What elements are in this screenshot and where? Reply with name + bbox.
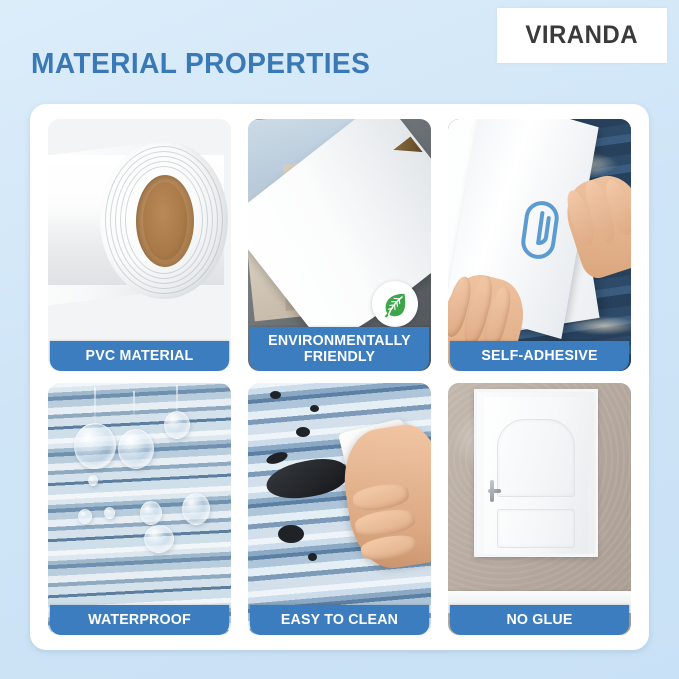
- water-droplet: [88, 475, 98, 486]
- feature-tile-environmentally-friendly[interactable]: ENVIRONMENTALLY FRIENDLY: [248, 119, 431, 371]
- door-handle-shape: [488, 489, 501, 493]
- roll-core-shape: [136, 175, 194, 267]
- feature-label-line1: ENVIRONMENTALLY: [268, 333, 411, 349]
- brand-name: VIRANDA: [526, 21, 639, 50]
- door-frame-shape: [474, 389, 598, 557]
- feature-label-waterproof: WATERPROOF: [50, 605, 229, 635]
- waterproof-image: [48, 383, 231, 635]
- water-droplet: [74, 423, 116, 469]
- feature-label-pvc-material: PVC MATERIAL: [50, 341, 229, 371]
- easy-to-clean-image: [248, 383, 431, 635]
- feature-tile-easy-to-clean[interactable]: EASY TO CLEAN: [248, 383, 431, 635]
- feature-label-line2: FRIENDLY: [304, 349, 375, 365]
- feature-label-no-glue: NO GLUE: [450, 605, 629, 635]
- droplet-trail: [133, 391, 135, 419]
- features-card: PVC MATERIAL: [30, 104, 649, 650]
- feature-tile-waterproof[interactable]: WATERPROOF: [48, 383, 231, 635]
- feature-label-environmentally-friendly: ENVIRONMENTALLY FRIENDLY: [250, 327, 429, 371]
- water-droplet: [118, 429, 154, 469]
- stain-spot: [278, 525, 304, 543]
- stain-spot: [270, 391, 281, 399]
- no-glue-image: [448, 383, 631, 635]
- features-grid: PVC MATERIAL: [48, 119, 631, 635]
- paperclip-icon: [516, 197, 564, 264]
- stain-spot: [308, 553, 317, 561]
- water-droplet: [144, 525, 174, 553]
- feature-tile-pvc-material[interactable]: PVC MATERIAL: [48, 119, 231, 371]
- stain-spot: [296, 427, 310, 437]
- brand-logo-box: VIRANDA: [497, 8, 667, 63]
- door-panel-lower: [497, 509, 575, 548]
- water-droplet: [140, 501, 162, 525]
- door-shape: [484, 397, 588, 554]
- water-droplet: [164, 411, 190, 439]
- feature-label-self-adhesive: SELF-ADHESIVE: [450, 341, 629, 371]
- droplet-trail: [94, 387, 96, 425]
- feature-tile-self-adhesive[interactable]: SELF-ADHESIVE: [448, 119, 631, 371]
- stain-spot: [310, 405, 319, 412]
- self-adhesive-image: [448, 119, 631, 371]
- page-title: MATERIAL PROPERTIES: [31, 48, 370, 81]
- water-droplet: [182, 493, 210, 525]
- feature-label-easy-to-clean: EASY TO CLEAN: [250, 605, 429, 635]
- pvc-roll-image: [48, 119, 231, 371]
- water-droplet: [78, 509, 92, 524]
- stain-spot: [265, 450, 289, 466]
- water-droplet: [104, 507, 115, 519]
- door-panel-upper: [497, 419, 575, 497]
- leaf-icon: [380, 289, 410, 319]
- leaf-badge: [372, 281, 418, 327]
- feature-tile-no-glue[interactable]: NO GLUE: [448, 383, 631, 635]
